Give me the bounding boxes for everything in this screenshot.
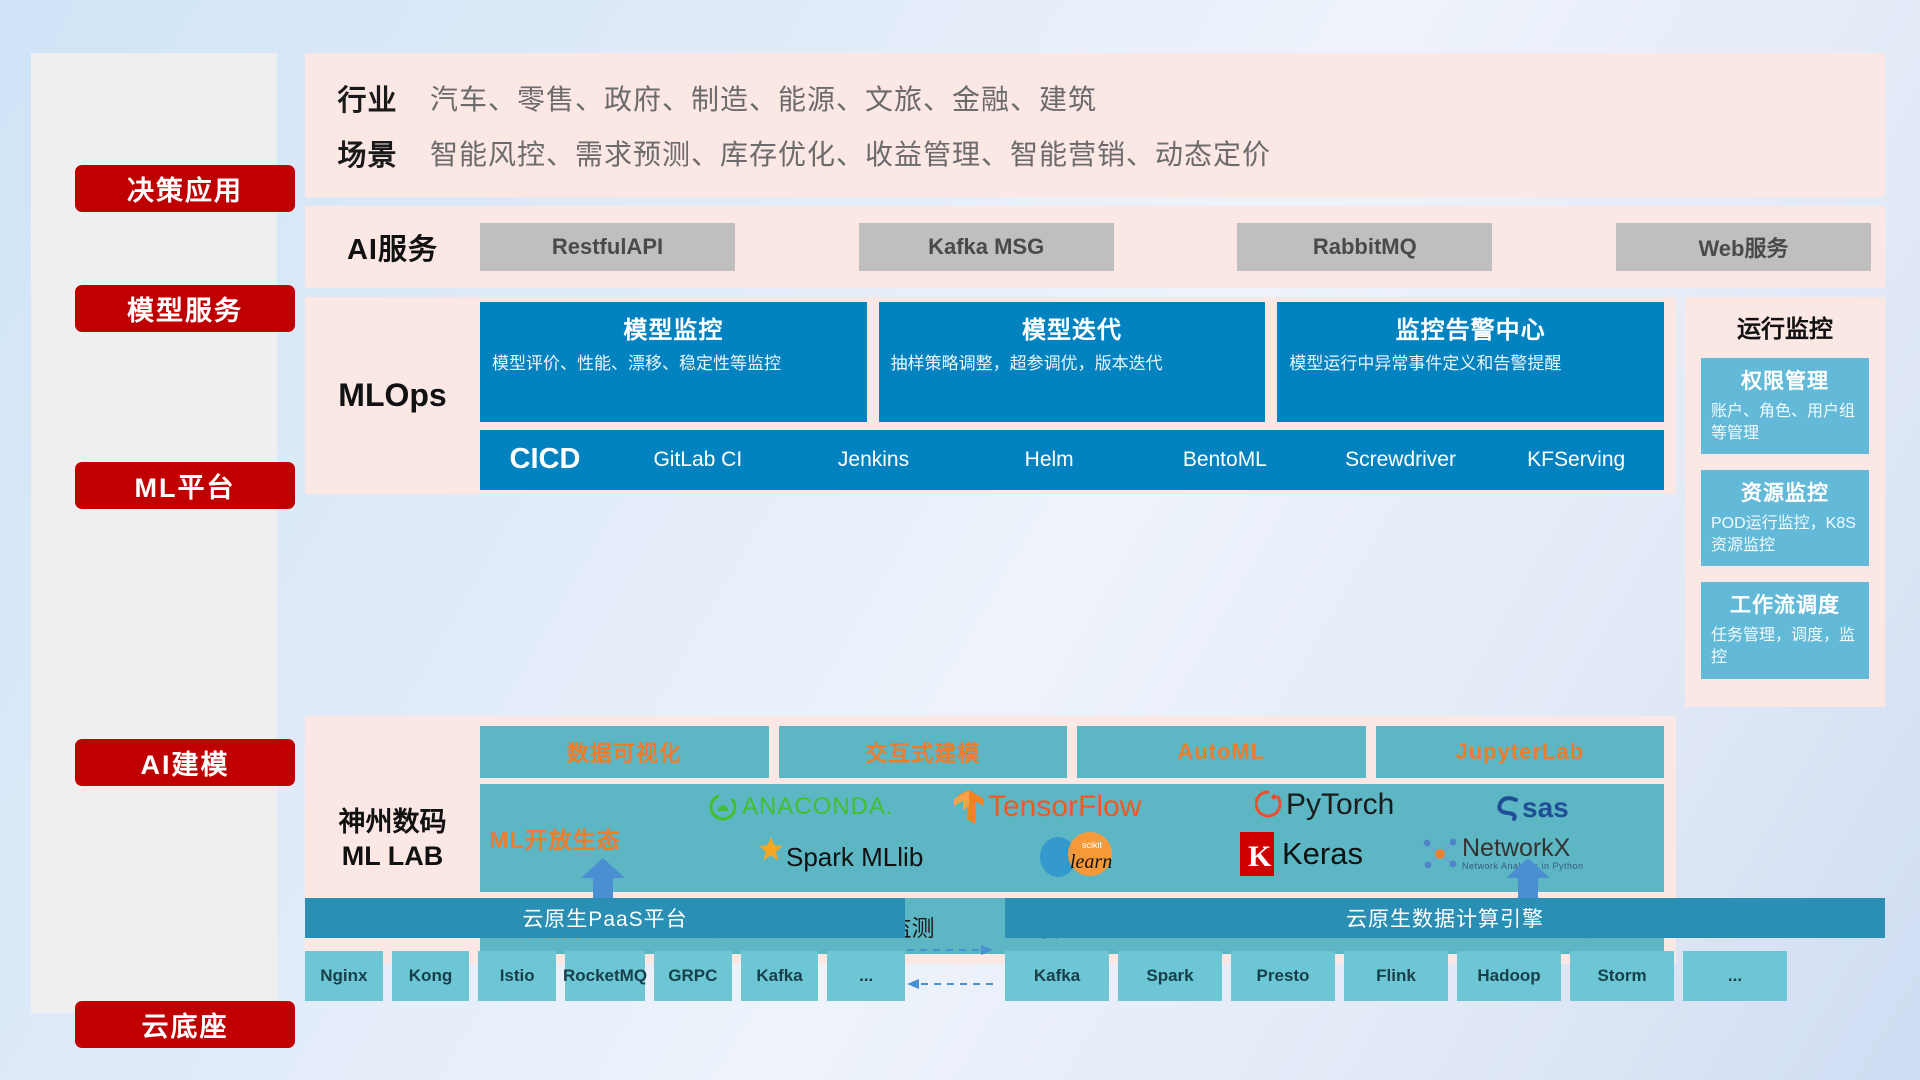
runtime-monitoring-title: 运行监控 xyxy=(1701,309,1869,344)
paas-bar-label: 云原生PaaS平台 xyxy=(522,903,687,933)
lab-chip-interactive-modeling[interactable]: 交互式建模 xyxy=(779,726,1068,778)
ai-service-label: AI服务 xyxy=(305,226,480,268)
diagram-canvas: 决策应用 模型服务 ML平台 AI建模 云底座 行业 汽车、零售、政府、制造、能… xyxy=(0,0,1920,1080)
cicd-item-kfserving[interactable]: KFServing xyxy=(1488,445,1664,475)
networkx-icon xyxy=(1422,836,1458,872)
paas-chip-istio[interactable]: Istio xyxy=(478,951,556,1001)
ml-lab-label-line1: 神州数码 xyxy=(305,806,480,840)
scenario-values: 智能风控、需求预测、库存优化、收益管理、智能营销、动态定价 xyxy=(430,133,1271,173)
chip-label: RestfulAPI xyxy=(552,234,663,260)
industry-row: 行业 汽车、零售、政府、制造、能源、文旅、金融、建筑 xyxy=(305,70,1885,125)
networkx-logo: NetworkX Network Analysis in Python xyxy=(1422,836,1584,872)
cicd-title: CICD xyxy=(480,443,610,476)
spark-mllib-logo: Spark MLlib xyxy=(748,836,923,880)
chip-label: Storm xyxy=(1597,966,1646,986)
ai-service-chip-kafka-msg[interactable]: Kafka MSG xyxy=(859,223,1114,271)
rail-tag-label: 决策应用 xyxy=(127,169,243,208)
networkx-logo-text: NetworkX xyxy=(1462,836,1584,861)
ai-service-chip-restfulapi[interactable]: RestfulAPI xyxy=(480,223,735,271)
chip-label: 数据可视化 xyxy=(567,736,682,768)
engine-chip-storm[interactable]: Storm xyxy=(1570,951,1674,1001)
mlops-card-alert-center[interactable]: 监控告警中心 模型运行中异常事件定义和告警提醒 xyxy=(1277,302,1664,422)
engine-chip-more[interactable]: ... xyxy=(1683,951,1787,1001)
mlops-card-model-iteration[interactable]: 模型迭代 抽样策略调整，超参调优，版本迭代 xyxy=(879,302,1266,422)
paas-column: 云原生PaaS平台 Nginx Kong Istio RocketMQ GRPC… xyxy=(305,898,905,1001)
chip-label: ... xyxy=(859,966,873,986)
card-desc: 抽样策略调整，超参调优，版本迭代 xyxy=(891,353,1254,376)
rail-tag-cloud-base[interactable]: 云底座 xyxy=(75,1001,295,1048)
rail-tag-label: 模型服务 xyxy=(127,289,243,328)
chip-label: JupyterLab xyxy=(1455,739,1584,765)
svg-text:learn: learn xyxy=(1070,851,1112,873)
chip-label: RocketMQ xyxy=(563,966,647,986)
card-desc: 账户、角色、用户组等管理 xyxy=(1711,401,1859,444)
cicd-item-gitlab-ci[interactable]: GitLab CI xyxy=(610,445,786,475)
keras-icon: K xyxy=(1240,832,1274,876)
tensorflow-logo-text: TensorFlow xyxy=(988,790,1141,824)
engine-chip-spark[interactable]: Spark xyxy=(1118,951,1222,1001)
card-title: 权限管理 xyxy=(1711,365,1859,395)
cloud-base-layer: 云原生PaaS平台 Nginx Kong Istio RocketMQ GRPC… xyxy=(305,880,1885,1030)
scenario-row: 场景 智能风控、需求预测、库存优化、收益管理、智能营销、动态定价 xyxy=(305,125,1885,180)
mlops-label: MLOps xyxy=(305,377,480,414)
rail-tag-ai-modeling[interactable]: AI建模 xyxy=(75,739,295,786)
keras-logo-text: Keras xyxy=(1282,836,1363,872)
scikit-learn-icon: scikit learn xyxy=(1036,832,1140,878)
paas-chip-grpc[interactable]: GRPC xyxy=(654,951,732,1001)
data-engine-bar[interactable]: 云原生数据计算引擎 xyxy=(1005,898,1885,938)
paas-chip-more[interactable]: ... xyxy=(827,951,905,1001)
sas-icon xyxy=(1492,794,1522,822)
lab-chip-automl[interactable]: AutoML xyxy=(1077,726,1366,778)
card-title: 模型迭代 xyxy=(891,310,1254,345)
industry-scenario-band: 行业 汽车、零售、政府、制造、能源、文旅、金融、建筑 场景 智能风控、需求预测、… xyxy=(305,53,1885,197)
tensorflow-icon xyxy=(952,788,986,826)
chip-label: AutoML xyxy=(1177,739,1265,765)
arrow-up-left-icon xyxy=(580,858,626,898)
chip-label: GRPC xyxy=(668,966,717,986)
anaconda-logo-text: ANACONDA. xyxy=(742,793,894,821)
cicd-bar: CICD GitLab CI Jenkins Helm BentoML Scre… xyxy=(480,430,1664,490)
keras-logo: K Keras xyxy=(1240,832,1363,876)
chip-label: RabbitMQ xyxy=(1313,234,1417,260)
pytorch-logo-text: PyTorch xyxy=(1286,788,1394,822)
lab-chip-data-viz[interactable]: 数据可视化 xyxy=(480,726,769,778)
scenario-label: 场景 xyxy=(305,132,430,174)
chip-label: Presto xyxy=(1257,966,1310,986)
engine-chip-flink[interactable]: Flink xyxy=(1344,951,1448,1001)
anaconda-logo: ANACONDA. xyxy=(708,792,894,822)
ai-service-band: AI服务 RestfulAPI Kafka MSG RabbitMQ Web服务 xyxy=(305,206,1885,288)
layer-rail: 决策应用 模型服务 ML平台 AI建模 云底座 xyxy=(31,53,277,1013)
rail-tag-label: 云底座 xyxy=(142,1005,229,1044)
ml-ecosystem-bar: ML开放生态 ANACONDA. xyxy=(480,784,1664,892)
chip-label: Kafka xyxy=(1034,966,1080,986)
cicd-item-jenkins[interactable]: Jenkins xyxy=(786,445,962,475)
chip-label: Nginx xyxy=(320,966,367,986)
chip-label: Kong xyxy=(409,966,452,986)
arrow-up-right-icon xyxy=(1505,858,1551,898)
tensorflow-logo: TensorFlow xyxy=(952,788,1141,826)
ml-lab-label: 神州数码 ML LAB xyxy=(305,806,480,874)
engine-chip-hadoop[interactable]: Hadoop xyxy=(1457,951,1561,1001)
pytorch-logo: PyTorch xyxy=(1255,788,1394,822)
main-column: 行业 汽车、零售、政府、制造、能源、文旅、金融、建筑 场景 智能风控、需求预测、… xyxy=(305,53,1885,964)
data-engine-column: 云原生数据计算引擎 Kafka Spark Presto Flink Hadoo… xyxy=(1005,898,1885,1001)
paas-chip-nginx[interactable]: Nginx xyxy=(305,951,383,1001)
industry-label: 行业 xyxy=(305,77,430,119)
data-engine-bar-label: 云原生数据计算引擎 xyxy=(1346,903,1544,933)
card-title: 模型监控 xyxy=(492,310,855,345)
paas-chip-rocketmq[interactable]: RocketMQ xyxy=(565,951,645,1001)
sas-logo-text: sas xyxy=(1522,792,1569,824)
monitor-card-permission[interactable]: 权限管理 账户、角色、用户组等管理 xyxy=(1701,358,1869,454)
rail-tag-decision-app[interactable]: 决策应用 xyxy=(75,165,295,212)
svg-text:scikit: scikit xyxy=(1082,840,1102,850)
mlops-band: MLOps 模型监控 模型评价、性能、漂移、稳定性等监控 模型迭代 抽样策略调整… xyxy=(305,297,1676,494)
cloud-link-dashed-icon xyxy=(905,938,995,998)
rail-tag-label: AI建模 xyxy=(141,743,230,782)
chip-label: Flink xyxy=(1376,966,1416,986)
card-desc: 模型评价、性能、漂移、稳定性等监控 xyxy=(492,353,855,376)
chip-label: ... xyxy=(1728,966,1742,986)
rail-tag-model-service[interactable]: 模型服务 xyxy=(75,285,295,332)
spark-mllib-logo-text: Spark MLlib xyxy=(786,842,923,873)
ai-service-chip-web-service[interactable]: Web服务 xyxy=(1616,223,1871,271)
card-title: 监控告警中心 xyxy=(1289,310,1652,345)
mlops-card-model-monitoring[interactable]: 模型监控 模型评价、性能、漂移、稳定性等监控 xyxy=(480,302,867,422)
card-desc: 模型运行中异常事件定义和告警提醒 xyxy=(1289,353,1652,376)
chip-label: Istio xyxy=(500,966,535,986)
scikit-learn-logo: scikit learn xyxy=(1036,832,1140,878)
industry-values: 汽车、零售、政府、制造、能源、文旅、金融、建筑 xyxy=(430,78,1097,118)
paas-chip-kafka[interactable]: Kafka xyxy=(741,951,819,1001)
ml-lab-label-line2: ML LAB xyxy=(305,840,480,874)
pytorch-icon xyxy=(1255,789,1283,821)
svg-text:K: K xyxy=(1248,840,1272,873)
chip-label: Kafka MSG xyxy=(928,234,1044,260)
chip-label: Hadoop xyxy=(1477,966,1540,986)
lab-chip-jupyterlab[interactable]: JupyterLab xyxy=(1376,726,1665,778)
cicd-item-bentoml[interactable]: BentoML xyxy=(1137,445,1313,475)
cicd-item-helm[interactable]: Helm xyxy=(961,445,1137,475)
chip-label: Kafka xyxy=(756,966,802,986)
cicd-item-screwdriver[interactable]: Screwdriver xyxy=(1313,445,1489,475)
paas-chip-kong[interactable]: Kong xyxy=(392,951,470,1001)
ai-service-chip-rabbitmq[interactable]: RabbitMQ xyxy=(1237,223,1492,271)
chip-label: Spark xyxy=(1146,966,1193,986)
engine-chip-presto[interactable]: Presto xyxy=(1231,951,1335,1001)
ml-ecosystem-label: ML开放生态 xyxy=(480,821,630,855)
chip-label: Web服务 xyxy=(1698,231,1788,263)
rail-tag-ml-platform[interactable]: ML平台 xyxy=(75,462,295,509)
paas-bar[interactable]: 云原生PaaS平台 xyxy=(305,898,905,938)
sas-logo: sas xyxy=(1492,792,1569,824)
engine-chip-kafka[interactable]: Kafka xyxy=(1005,951,1109,1001)
anaconda-icon xyxy=(708,792,738,822)
rail-tag-label: ML平台 xyxy=(135,466,236,505)
chip-label: 交互式建模 xyxy=(865,736,980,768)
